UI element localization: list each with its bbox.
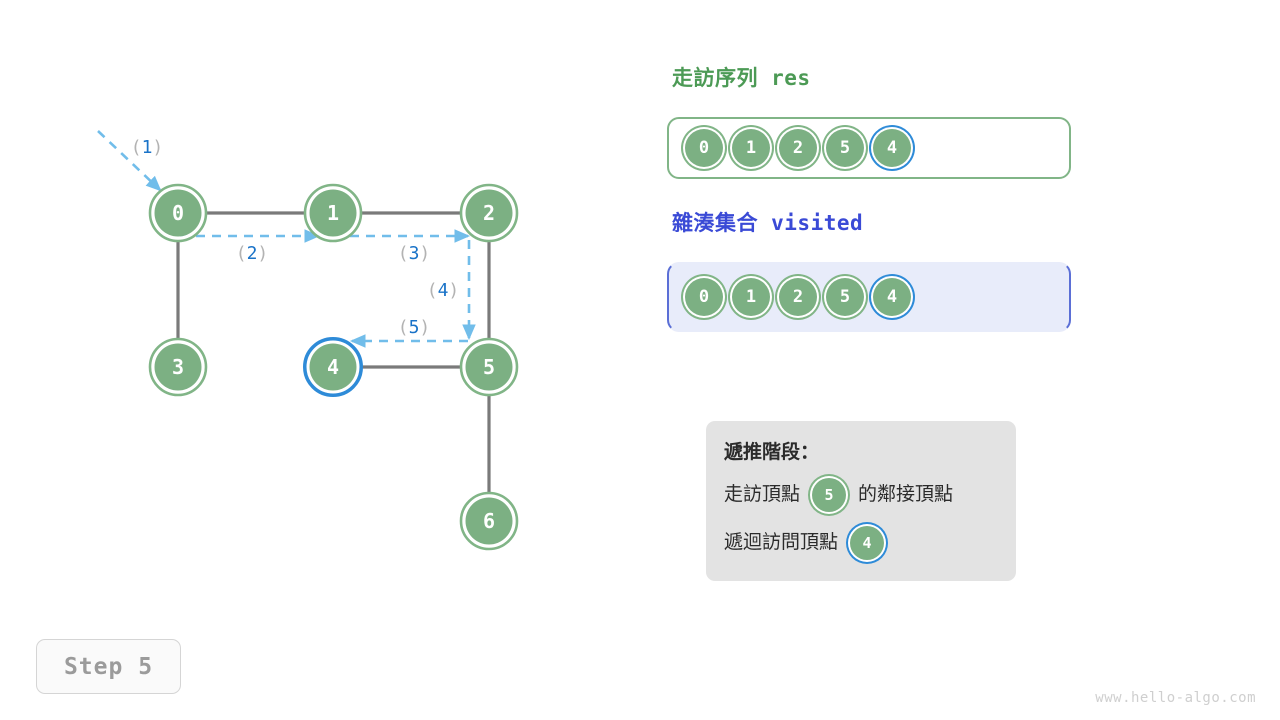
res-item-4: 4 — [873, 129, 911, 167]
step-badge: Step 5 — [36, 639, 181, 694]
graph-node-0-label: 0 — [172, 201, 184, 225]
note-line-2: 遞迴訪問頂點 4 — [724, 526, 1016, 560]
visited-item-4: 4 — [873, 278, 911, 316]
graph-node-3[interactable]: 3 — [150, 339, 206, 395]
step-label-2: (2) — [236, 243, 269, 264]
res-container: 01254 — [667, 117, 1071, 179]
graph-nodes: 0123456 — [150, 185, 517, 549]
graph-panel: 0123456 (1)(2)(3)(4)(5) — [0, 0, 640, 720]
note-line-1: 走訪頂點 5 的鄰接頂點 — [724, 478, 1016, 512]
watermark: www.hello-algo.com — [1095, 690, 1256, 706]
visited-chip-row: 01254 — [685, 264, 911, 330]
visited-item-3: 5 — [826, 278, 864, 316]
res-item-2: 2 — [779, 129, 817, 167]
graph-node-2[interactable]: 2 — [461, 185, 517, 241]
visited-item-0: 0 — [685, 278, 723, 316]
graph-node-1[interactable]: 1 — [305, 185, 361, 241]
res-chip-row: 01254 — [685, 119, 911, 177]
graph-node-1-label: 1 — [327, 201, 339, 225]
visited-section-title: 雜湊集合 visited — [672, 207, 863, 237]
traversal-arrows — [98, 131, 469, 341]
graph-node-6[interactable]: 6 — [461, 493, 517, 549]
note-line-1-prefix: 走訪頂點 — [724, 485, 800, 504]
note-line-2-prefix: 遞迴訪問頂點 — [724, 533, 838, 552]
res-item-3: 5 — [826, 129, 864, 167]
note-chip-vertex-4: 4 — [850, 526, 884, 560]
graph-node-2-label: 2 — [483, 201, 495, 225]
res-section-title: 走訪序列 res — [672, 62, 811, 92]
graph-node-3-label: 3 — [172, 355, 184, 379]
graph-node-4[interactable]: 4 — [305, 339, 361, 395]
res-item-0: 0 — [685, 129, 723, 167]
step-label-3: (3) — [398, 243, 431, 264]
graph-node-5[interactable]: 5 — [461, 339, 517, 395]
graph-diagram: 0123456 (1)(2)(3)(4)(5) — [0, 0, 640, 720]
visited-item-1: 1 — [732, 278, 770, 316]
step-label-1: (1) — [131, 137, 164, 158]
note-box: 遞推階段： 走訪頂點 5 的鄰接頂點 遞迴訪問頂點 4 — [706, 421, 1016, 581]
graph-node-5-label: 5 — [483, 355, 495, 379]
step-label-5: (5) — [398, 317, 431, 338]
visited-container: 01254 — [667, 262, 1071, 332]
res-item-1: 1 — [732, 129, 770, 167]
graph-node-0[interactable]: 0 — [150, 185, 206, 241]
graph-node-4-label: 4 — [327, 355, 339, 379]
right-panel: 走訪序列 res 01254 雜湊集合 visited 01254 遞推階段： … — [660, 0, 1280, 720]
step-label-4: (4) — [427, 280, 460, 301]
note-chip-vertex-5: 5 — [812, 478, 846, 512]
graph-node-6-label: 6 — [483, 509, 495, 533]
note-heading: 遞推階段： — [724, 441, 1016, 464]
note-line-1-suffix: 的鄰接頂點 — [858, 485, 953, 504]
visited-item-2: 2 — [779, 278, 817, 316]
